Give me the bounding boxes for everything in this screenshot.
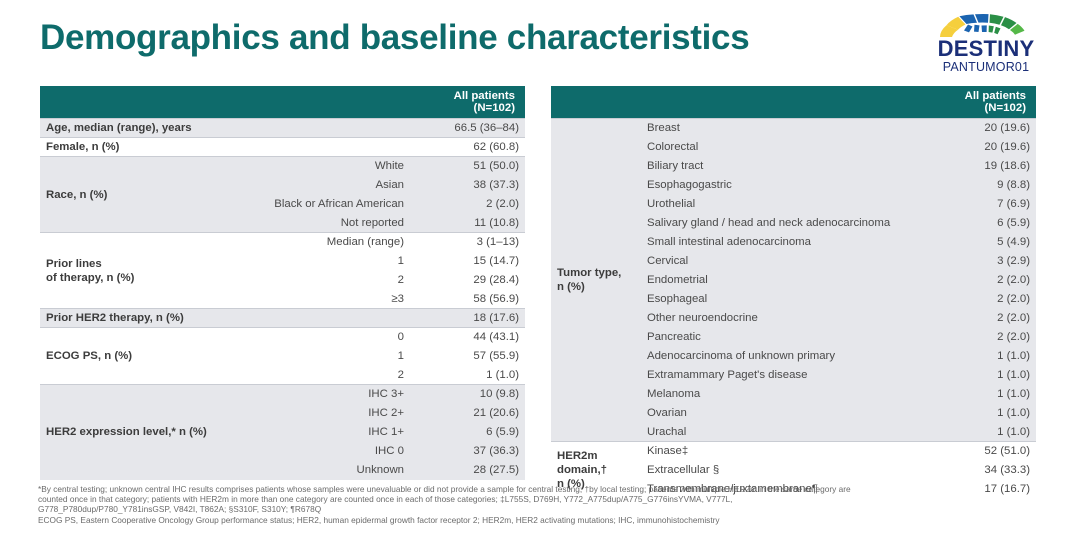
footnote-line-2: counted once in that category; patients …	[38, 494, 1058, 504]
row-value: 2 (2.0)	[921, 290, 1036, 309]
row-subcategory-nested: 1	[335, 252, 410, 271]
row-value: 51 (50.0)	[410, 157, 525, 176]
row-subcategory: Asian	[245, 176, 410, 195]
row-label: ECOG PS, n (%)	[40, 328, 245, 385]
row-subcategory: Esophagogastric	[641, 176, 921, 195]
row-subcategory	[245, 119, 410, 138]
row-subcategory: Not reported	[245, 214, 410, 233]
logo-subtitle: PANTUMOR01	[921, 60, 1051, 74]
header-all-patients: All patients (N=102)	[921, 86, 1036, 119]
row-subcategory: Black or African American	[245, 195, 410, 214]
row-subcategory: White	[245, 157, 410, 176]
row-subcategory: IHC 0	[245, 442, 410, 461]
table-header-row: All patients (N=102)	[551, 86, 1036, 119]
row-value: 44 (43.1)	[410, 328, 525, 347]
table-row: Age, median (range), years66.5 (36–84)	[40, 119, 525, 138]
row-value: 2 (2.0)	[921, 309, 1036, 328]
row-value: 57 (55.9)	[410, 347, 525, 366]
row-value: 21 (20.6)	[410, 404, 525, 423]
row-value: 29 (28.4)	[410, 271, 525, 290]
row-value: 1 (1.0)	[921, 404, 1036, 423]
row-subcategory	[245, 252, 335, 271]
row-subcategory: Esophageal	[641, 290, 921, 309]
row-value: 1 (1.0)	[921, 347, 1036, 366]
row-value: 18 (17.6)	[410, 309, 525, 328]
row-subcategory: Other neuroendocrine	[641, 309, 921, 328]
row-value: 37 (36.3)	[410, 442, 525, 461]
table-row: Prior linesof therapy, n (%)Median (rang…	[40, 233, 525, 252]
row-value: 9 (8.8)	[921, 176, 1036, 195]
row-label: Female, n (%)	[40, 138, 245, 157]
row-value: 28 (27.5)	[410, 461, 525, 480]
row-value: 1 (1.0)	[921, 366, 1036, 385]
row-subcategory: Adenocarcinoma of unknown primary	[641, 347, 921, 366]
row-subcategory-nested: ≥3	[335, 290, 410, 309]
row-value: 1 (1.0)	[921, 385, 1036, 404]
row-value: 34 (33.3)	[921, 461, 1036, 480]
row-value: 52 (51.0)	[921, 442, 1036, 461]
row-subcategory: Biliary tract	[641, 157, 921, 176]
row-value: 15 (14.7)	[410, 252, 525, 271]
table-row: Prior HER2 therapy, n (%)18 (17.6)	[40, 309, 525, 328]
destiny-arc-icon	[921, 12, 1051, 38]
row-value: 66.5 (36–84)	[410, 119, 525, 138]
row-subcategory: Melanoma	[641, 385, 921, 404]
row-subcategory: Cervical	[641, 252, 921, 271]
table-row: Tumor type,n (%)Breast20 (19.6)	[551, 119, 1036, 138]
row-subcategory: Extracellular §	[641, 461, 921, 480]
row-value: 20 (19.6)	[921, 138, 1036, 157]
row-label: Prior linesof therapy, n (%)	[40, 233, 245, 309]
row-subcategory: Endometrial	[641, 271, 921, 290]
row-subcategory: 0	[245, 328, 410, 347]
row-value: 3 (2.9)	[921, 252, 1036, 271]
logo-wordmark: DESTINY	[921, 38, 1051, 60]
row-subcategory	[245, 309, 410, 328]
demographics-table: All patients (N=102) Age, median (range)…	[40, 86, 525, 480]
row-subcategory: Median (range)	[245, 233, 410, 252]
row-value: 58 (56.9)	[410, 290, 525, 309]
table-row: Race, n (%)White51 (50.0)	[40, 157, 525, 176]
row-value: 2 (2.0)	[410, 195, 525, 214]
row-value: 5 (4.9)	[921, 233, 1036, 252]
tumor-type-table: All patients (N=102) Tumor type,n (%)Bre…	[551, 86, 1036, 499]
row-subcategory: IHC 2+	[245, 404, 410, 423]
header-blank	[551, 86, 921, 119]
row-value: 62 (60.8)	[410, 138, 525, 157]
footnotes: *By central testing; unknown central IHC…	[38, 484, 1058, 525]
row-subcategory	[245, 138, 410, 157]
table-row: HER2mdomain,†n (%)Kinase‡52 (51.0)	[551, 442, 1036, 461]
row-subcategory: Extramammary Paget's disease	[641, 366, 921, 385]
row-value: 6 (5.9)	[410, 423, 525, 442]
row-subcategory: Colorectal	[641, 138, 921, 157]
row-subcategory: Urothelial	[641, 195, 921, 214]
destiny-pantumor01-logo: DESTINY PANTUMOR01	[921, 12, 1051, 74]
page-title: Demographics and baseline characteristic…	[40, 18, 749, 58]
row-subcategory: Small intestinal adenocarcinoma	[641, 233, 921, 252]
row-subcategory	[245, 271, 335, 290]
row-subcategory-nested: 2	[335, 271, 410, 290]
footnote-line-3: G778_P780dup/P780_Y781insGSP, V842I, T86…	[38, 504, 1058, 514]
row-label: Age, median (range), years	[40, 119, 245, 138]
header-blank	[40, 86, 410, 119]
row-subcategory	[245, 290, 335, 309]
row-label: Tumor type,n (%)	[551, 119, 641, 442]
row-value: 11 (10.8)	[410, 214, 525, 233]
row-value: 1 (1.0)	[921, 423, 1036, 442]
row-subcategory: 1	[245, 347, 410, 366]
footnote-abbreviations: ECOG PS, Eastern Cooperative Oncology Gr…	[38, 515, 1058, 525]
row-subcategory: IHC 3+	[245, 385, 410, 404]
row-subcategory: Urachal	[641, 423, 921, 442]
row-value: 10 (9.8)	[410, 385, 525, 404]
table-row: Female, n (%)62 (60.8)	[40, 138, 525, 157]
row-label: Race, n (%)	[40, 157, 245, 233]
row-value: 38 (37.3)	[410, 176, 525, 195]
header-all-patients: All patients (N=102)	[410, 86, 525, 119]
row-value: 20 (19.6)	[921, 119, 1036, 138]
row-value: 2 (2.0)	[921, 328, 1036, 347]
row-subcategory: Breast	[641, 119, 921, 138]
row-subcategory: IHC 1+	[245, 423, 410, 442]
row-subcategory: Pancreatic	[641, 328, 921, 347]
row-value: 7 (6.9)	[921, 195, 1036, 214]
row-label: Prior HER2 therapy, n (%)	[40, 309, 245, 328]
row-value: 1 (1.0)	[410, 366, 525, 385]
table-row: HER2 expression level,* n (%)IHC 3+10 (9…	[40, 385, 525, 404]
row-subcategory: Ovarian	[641, 404, 921, 423]
row-value: 3 (1–13)	[410, 233, 525, 252]
row-value: 2 (2.0)	[921, 271, 1036, 290]
row-subcategory: Unknown	[245, 461, 410, 480]
table-header-row: All patients (N=102)	[40, 86, 525, 119]
table-row: ECOG PS, n (%)044 (43.1)	[40, 328, 525, 347]
footnote-line-1: *By central testing; unknown central IHC…	[38, 484, 1058, 494]
row-subcategory: 2	[245, 366, 410, 385]
row-value: 6 (5.9)	[921, 214, 1036, 233]
row-value: 19 (18.6)	[921, 157, 1036, 176]
row-subcategory: Kinase‡	[641, 442, 921, 461]
row-subcategory: Salivary gland / head and neck adenocarc…	[641, 214, 921, 233]
row-label: HER2 expression level,* n (%)	[40, 385, 245, 480]
